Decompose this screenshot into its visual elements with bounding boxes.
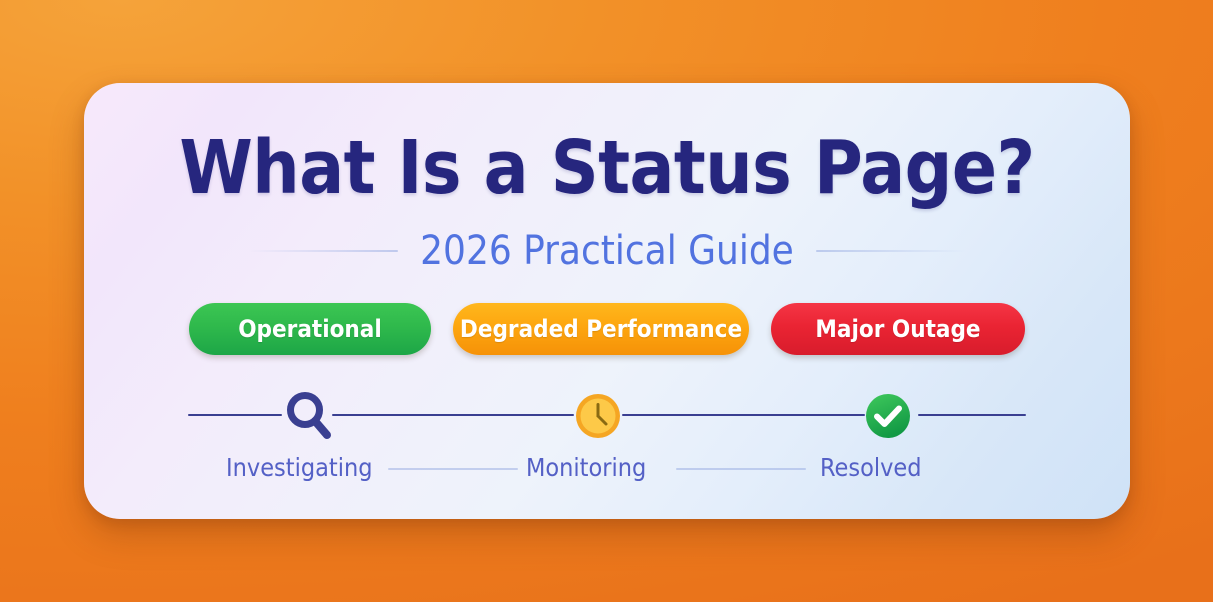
status-badge-operational[interactable]: Operational (189, 303, 431, 355)
timeline-label-rule-2 (676, 468, 806, 470)
timeline-label-investigating: Investigating (226, 451, 372, 485)
timeline-step-investigating[interactable] (280, 393, 336, 439)
poster-canvas: What Is a Status Page? 2026 Practical Gu… (0, 0, 1213, 602)
page-title: What Is a Status Page? (84, 131, 1130, 205)
page-subtitle: 2026 Practical Guide (420, 231, 794, 271)
timeline-connector-3 (918, 414, 1026, 416)
status-badge-degraded-performance[interactable]: Degraded Performance (453, 303, 749, 355)
timeline-connector-2 (622, 414, 865, 416)
timeline-step-monitoring[interactable] (570, 393, 626, 439)
timeline-label-monitoring: Monitoring (526, 451, 646, 485)
subtitle-rule-left (248, 250, 398, 252)
timeline-label-resolved: Resolved (820, 451, 922, 485)
clock-icon (574, 392, 622, 440)
subtitle-row: 2026 Practical Guide (84, 231, 1130, 271)
incident-timeline: Investigating Monitoring Resolved (188, 393, 1026, 493)
timeline-connector-0 (188, 414, 282, 416)
timeline-connector-1 (332, 414, 574, 416)
subtitle-rule-right (816, 250, 966, 252)
timeline-step-resolved[interactable] (860, 393, 916, 439)
status-page-card: What Is a Status Page? 2026 Practical Gu… (84, 83, 1130, 519)
check-circle-icon (864, 392, 912, 440)
magnifying-glass-icon (282, 388, 334, 444)
status-badge-group: Operational Degraded Performance Major O… (84, 303, 1130, 355)
status-badge-major-outage[interactable]: Major Outage (771, 303, 1025, 355)
timeline-label-row: Investigating Monitoring Resolved (188, 451, 1026, 485)
timeline-label-rule-1 (388, 468, 518, 470)
